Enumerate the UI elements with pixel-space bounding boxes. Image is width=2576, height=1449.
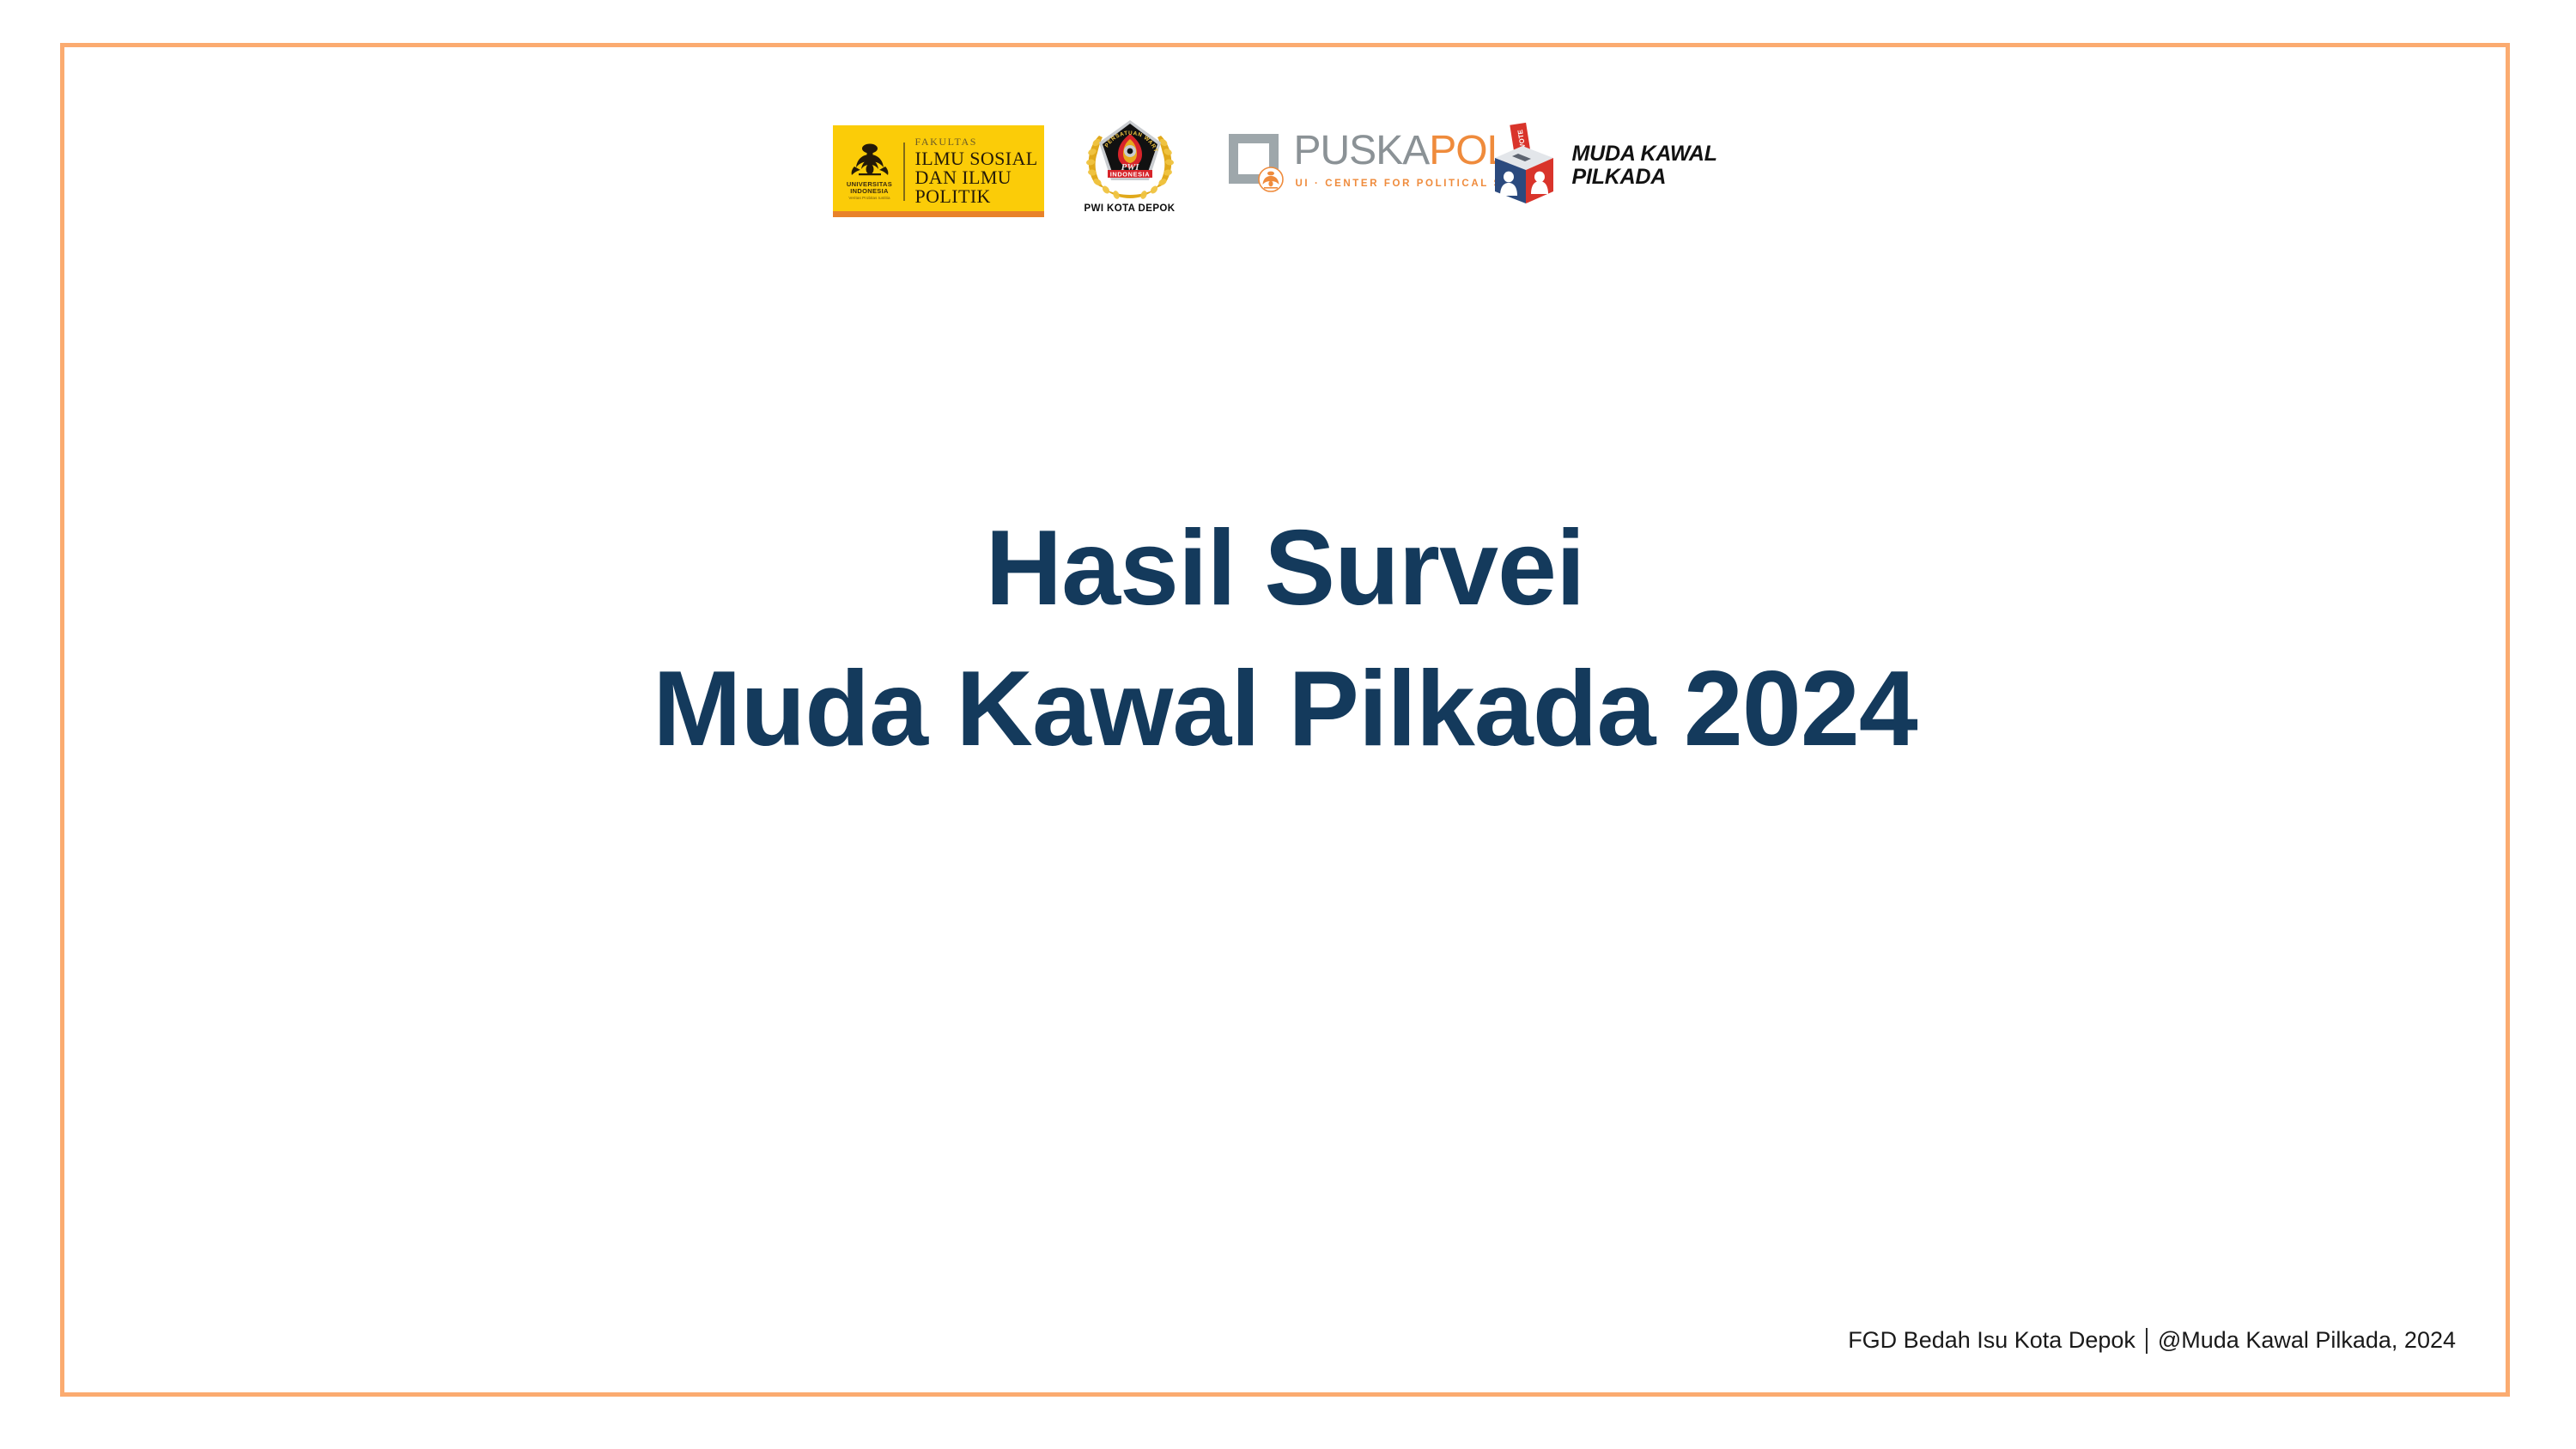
footer-separator [2146,1328,2148,1354]
mkp-wordmark-line2: PILKADA [1572,165,1667,189]
title-line-1: Hasil Survei [60,515,2510,621]
footer-right-text: @Muda Kawal Pilkada, 2024 [2158,1327,2456,1354]
fisip-bottom-strip [833,211,1044,217]
makara-icon [850,142,890,179]
pwi-emblem-icon: PWI INDONESIA PERSATUAN WARTAWAN [1082,113,1178,203]
fisip-name-line3: POLITIK [915,187,1038,206]
footer-left-text: FGD Bedah Isu Kota Depok [1848,1327,2136,1354]
makara-ui-emblem: UNIVERSITAS INDONESIA Veritas Probitas I… [833,125,900,217]
fisip-name-line2: DAN ILMU [915,168,1038,187]
puskapol-wordmark: PUSKAPOL [1294,130,1510,172]
fisip-name-line1: ILMU SOSIAL [915,149,1038,168]
ui-seal-icon [1258,167,1284,192]
partner-logo-strip: UNIVERSITAS INDONESIA Veritas Probitas I… [0,113,2576,227]
muda-kawal-pilkada-logo: VOTE [1486,120,1744,233]
title-line-2: Muda Kawal Pilkada 2024 [60,656,2510,762]
fisip-university-line2: INDONESIA [850,187,888,195]
page-title: Hasil Survei Muda Kawal Pilkada 2024 [60,515,2510,762]
slide-canvas: UNIVERSITAS INDONESIA Veritas Probitas I… [0,0,2576,1449]
slide-footer: FGD Bedah Isu Kota Depok @Muda Kawal Pil… [1848,1327,2456,1354]
fisip-university-label: UNIVERSITAS INDONESIA Veritas Probitas I… [847,181,892,200]
fisip-tagline: Veritas Probitas Iustitia [847,196,892,200]
pwi-caption-label: PWI KOTA DEPOK [1084,203,1176,214]
fisip-fakultas-label: FAKULTAS [915,136,1038,147]
muda-kawal-pilkada-wordmark: MUDA KAWAL PILKADA [1572,142,1717,188]
puskapol-logo: PUSKAPOL UI · CENTER FOR POLITICAL STUDI… [1229,130,1461,244]
svg-text:INDONESIA: INDONESIA [1109,170,1150,178]
ballot-box-icon: VOTE [1486,120,1565,209]
fisip-faculty-text: FAKULTAS ILMU SOSIAL DAN ILMU POLITIK [915,136,1038,206]
fisip-ui-logo: UNIVERSITAS INDONESIA Veritas Probitas I… [833,125,1044,217]
puskapol-word-gray: PUSKA [1294,128,1430,173]
fisip-divider [903,142,905,201]
pwi-kota-depok-logo: PWI INDONESIA PERSATUAN WARTAWAN PWI KOT… [1070,113,1190,227]
mkp-wordmark-line1: MUDA KAWAL [1572,142,1717,166]
